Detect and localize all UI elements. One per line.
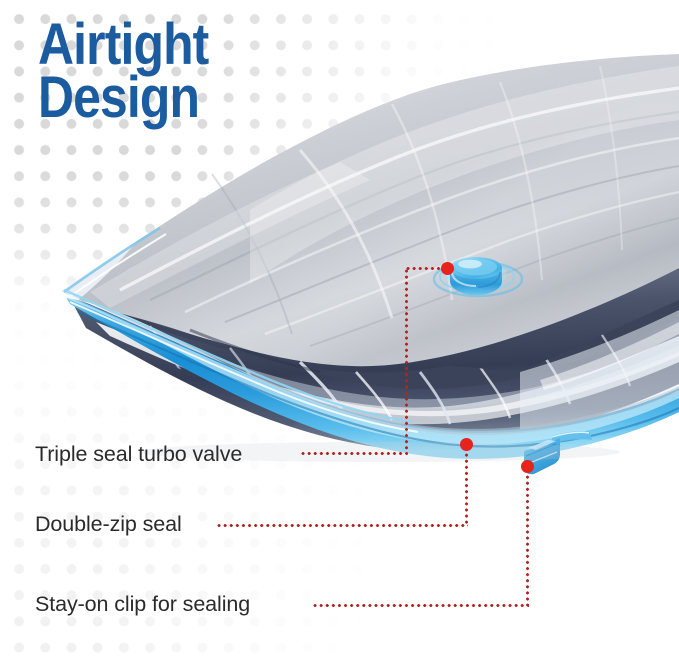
- callout-label-stay-on-clip-for-sealing: Stay-on clip for sealing: [35, 592, 250, 617]
- callout-leader-v-1: [405, 268, 408, 454]
- infographic-canvas: Airtight Design Triple seal turbo valve …: [0, 0, 679, 663]
- callout-leader-h-2: [216, 524, 468, 527]
- callout-anchor-dot-stay-on-clip-for-sealing: [521, 460, 534, 473]
- callout-leader-h-3: [312, 604, 529, 607]
- callout-label-double-zip-seal: Double-zip seal: [35, 512, 182, 537]
- callout-leader-v-2: [465, 446, 468, 526]
- callout-group: Triple seal turbo valve Double-zip seal …: [0, 0, 679, 663]
- callout-leader-v-3: [526, 468, 529, 606]
- callout-anchor-dot-triple-seal-turbo-valve: [441, 262, 454, 275]
- callout-label-triple-seal-turbo-valve: Triple seal turbo valve: [35, 442, 242, 467]
- callout-leader-h-1: [300, 452, 408, 455]
- callout-anchor-dot-double-zip-seal: [460, 438, 473, 451]
